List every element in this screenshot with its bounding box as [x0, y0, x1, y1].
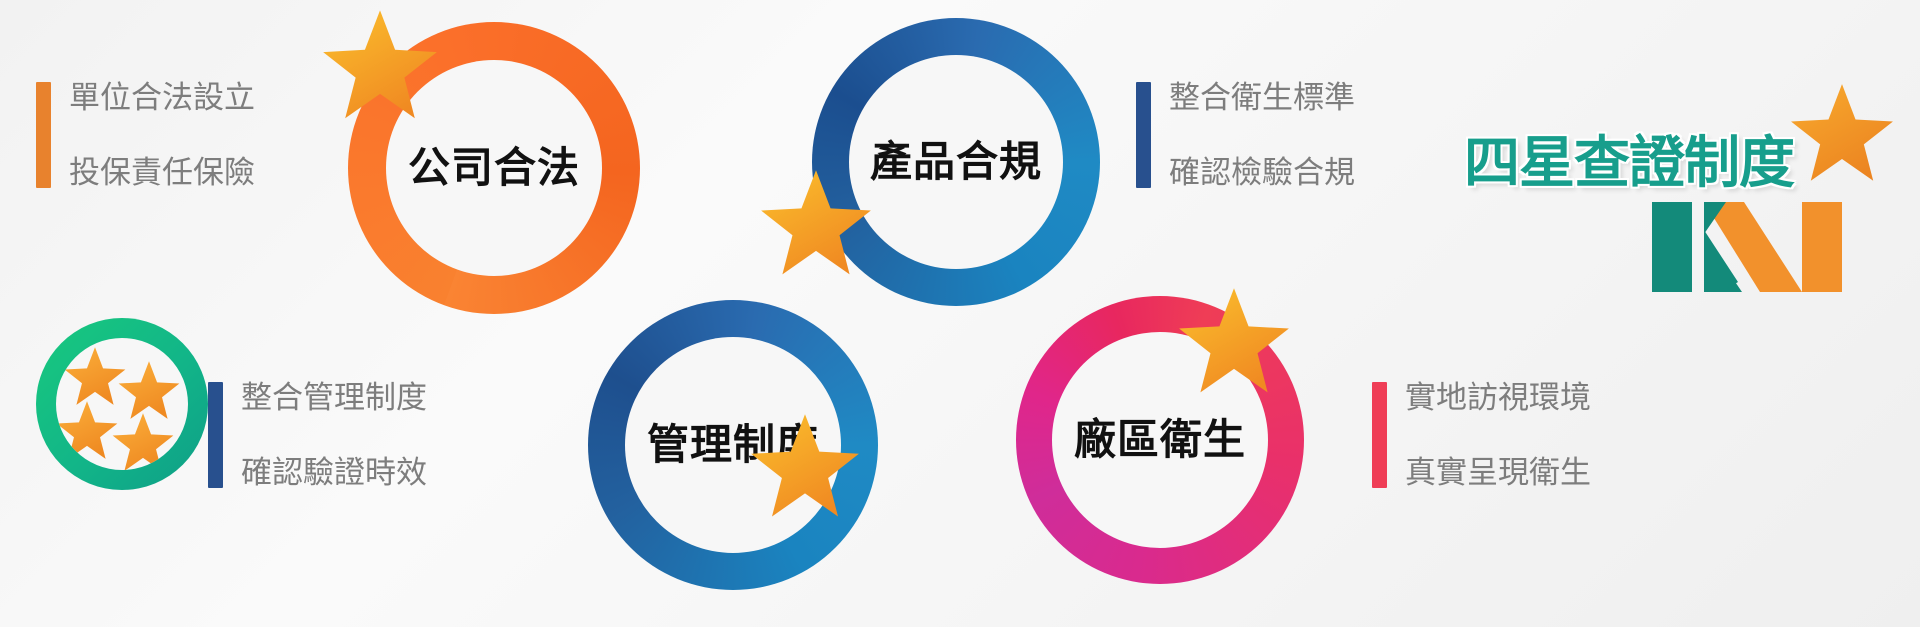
bullet-group-company-legal: 單位合法設立 投保責任保險 — [36, 82, 255, 188]
bullet-manage-2: 確認驗證時效 — [241, 457, 427, 488]
star-cluster — [56, 338, 188, 470]
ring-label-company-legal: 公司合法 — [408, 147, 580, 189]
badge-star-3-icon — [56, 400, 118, 462]
accent-bar-product — [1136, 82, 1151, 188]
star-product-icon — [760, 168, 872, 280]
star-manage-icon — [750, 412, 860, 522]
bullet-manage-1: 整合管理制度 — [241, 382, 427, 413]
ring-product-compliance-inner: 產品合規 — [849, 55, 1063, 269]
accent-bar-hygiene — [1372, 382, 1387, 488]
brand-title: 四星查證制度 — [1464, 118, 1794, 199]
bullet-group-product-compliance: 整合衛生標準 確認檢驗合規 — [1136, 82, 1355, 188]
ring-label-product-compliance: 產品合規 — [870, 141, 1042, 183]
ring-label-plant-hygiene: 廠區衛生 — [1074, 419, 1246, 461]
four-star-badge-inner — [56, 338, 188, 470]
star-company-icon — [322, 8, 438, 124]
badge-star-4-icon — [112, 412, 174, 470]
bullet-group-plant-hygiene: 實地訪視環境 真實呈現衛生 — [1372, 382, 1591, 488]
bullet-company-2: 投保責任保險 — [69, 157, 255, 188]
four-star-badge[interactable] — [36, 318, 208, 490]
bullet-product-2: 確認檢驗合規 — [1169, 157, 1355, 188]
accent-bar-manage — [208, 382, 223, 488]
bullet-group-management-system: 整合管理制度 確認驗證時效 — [208, 382, 427, 488]
badge-star-1-icon — [64, 346, 126, 408]
bullet-company-1: 單位合法設立 — [69, 82, 255, 113]
bullet-hygiene-2: 真實呈現衛生 — [1405, 457, 1591, 488]
infographic-canvas: 單位合法設立 投保責任保險 公司合法 產品合規 整合衛生標準 確認檢驗合規 — [0, 0, 1920, 627]
bullet-product-1: 整合衛生標準 — [1169, 82, 1355, 113]
nsi-monogram-logo — [1652, 196, 1842, 292]
accent-bar-company — [36, 82, 51, 188]
star-hygiene-icon — [1178, 286, 1290, 398]
star-title-icon — [1790, 82, 1894, 186]
bullet-hygiene-1: 實地訪視環境 — [1405, 382, 1591, 413]
